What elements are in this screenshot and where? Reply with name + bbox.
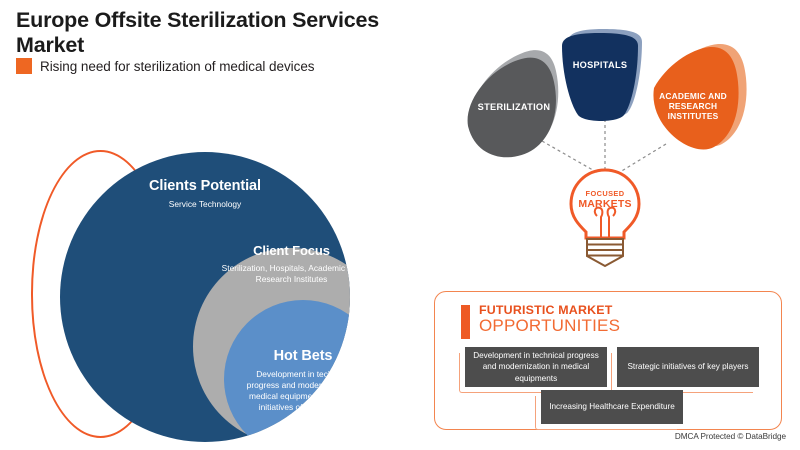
petal-hospitals[interactable] bbox=[562, 33, 638, 121]
focused-markets-diagram: STERILIZATION HOSPITALS ACADEMIC AND RES… bbox=[440, 16, 790, 278]
footer-copyright: DMCA Protected © DataBridge bbox=[675, 432, 786, 441]
circle-outer-text-group: Clients Potential Service Technology bbox=[60, 178, 350, 210]
opportunity-card-1: Development in technical progress and mo… bbox=[465, 347, 607, 387]
futuristic-opportunities-panel: FUTURISTIC MARKET OPPORTUNITIES Developm… bbox=[434, 291, 782, 430]
subtitle-row: Rising need for sterilization of medical… bbox=[16, 58, 314, 74]
circle-inner-subtitle: Development in technical progress and mo… bbox=[224, 369, 350, 413]
opportunity-item-1[interactable]: Development in technical progress and mo… bbox=[459, 347, 605, 389]
orange-square-icon bbox=[16, 58, 32, 74]
petal-hospitals-label: HOSPITALS bbox=[573, 60, 628, 70]
petal-sterilization-label: STERILIZATION bbox=[478, 102, 551, 112]
page-subtitle: Rising need for sterilization of medical… bbox=[40, 59, 314, 74]
panel-heading-line1: FUTURISTIC MARKET bbox=[479, 304, 620, 316]
orange-bar-icon bbox=[461, 305, 470, 339]
circle-middle-subtitle: Sterilization, Hospitals, Academic and R… bbox=[193, 263, 350, 285]
page-title: Europe Offsite Sterilization Services Ma… bbox=[16, 8, 436, 58]
concentric-circles-diagram: Clients Potential Service Technology Cli… bbox=[20, 140, 380, 450]
opportunity-item-2[interactable]: Strategic initiatives of key players bbox=[611, 347, 757, 389]
petal-academic-label-line2: RESEARCH bbox=[669, 101, 718, 111]
circle-inner-title: Hot Bets bbox=[224, 348, 350, 364]
lightbulb-icon[interactable]: FOCUSED MARKETS bbox=[571, 170, 639, 266]
circle-middle-text-group: Client Focus Sterilization, Hospitals, A… bbox=[193, 243, 350, 285]
opportunity-card-2: Strategic initiatives of key players bbox=[617, 347, 759, 387]
circle-outer-subtitle: Service Technology bbox=[60, 199, 350, 210]
panel-heading: FUTURISTIC MARKET OPPORTUNITIES bbox=[461, 304, 620, 339]
circle-middle-title: Client Focus bbox=[193, 243, 350, 258]
circle-outer-title: Clients Potential bbox=[60, 178, 350, 194]
petal-academic-label-line3: INSTITUTES bbox=[668, 111, 719, 121]
opportunity-item-3[interactable]: Increasing Healthcare Expenditure bbox=[535, 390, 681, 430]
panel-heading-line2: OPPORTUNITIES bbox=[479, 317, 620, 335]
circle-client-focus[interactable]: Client Focus Sterilization, Hospitals, A… bbox=[193, 248, 350, 442]
lightbulb-label-line2: MARKETS bbox=[578, 198, 631, 210]
slide-canvas: Europe Offsite Sterilization Services Ma… bbox=[0, 0, 800, 450]
petal-academic-label: ACADEMIC AND bbox=[659, 91, 727, 101]
lightbulb-label-line1: FOCUSED bbox=[586, 189, 625, 198]
circle-hot-bets[interactable]: Hot Bets Development in technical progre… bbox=[224, 300, 350, 442]
opportunity-card-3: Increasing Healthcare Expenditure bbox=[541, 390, 683, 424]
circle-inner-text-group: Hot Bets Development in technical progre… bbox=[224, 348, 350, 413]
circle-clients-potential[interactable]: Clients Potential Service Technology Cli… bbox=[60, 152, 350, 442]
connector-lines bbox=[542, 119, 666, 173]
